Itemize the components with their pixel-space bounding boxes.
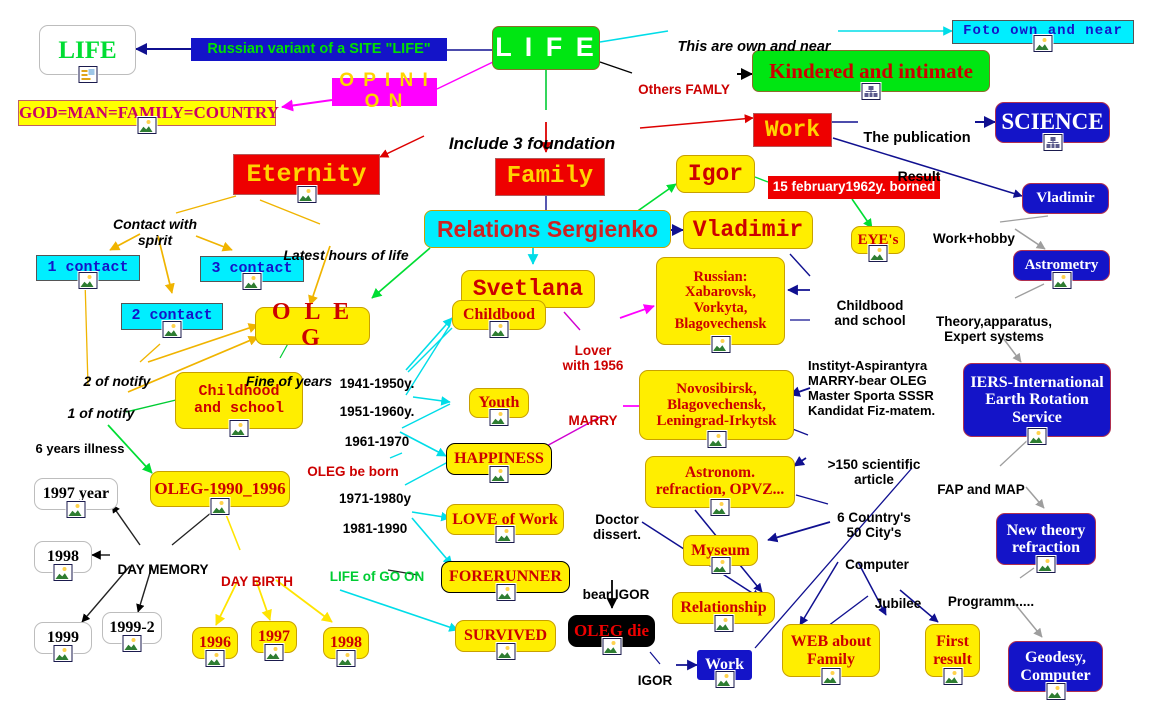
picture-icon[interactable] <box>490 409 509 426</box>
picture-icon[interactable] <box>230 420 249 437</box>
picture-icon[interactable] <box>211 498 230 515</box>
picture-icon[interactable] <box>496 643 515 660</box>
picture-icon[interactable] <box>711 499 730 516</box>
edge-label-work-hobby: Work+hobby <box>928 215 1020 246</box>
edge-label-life-of-go-on: LIFE of GO ON <box>320 553 434 584</box>
node-oleg[interactable]: O L E G <box>255 307 370 345</box>
picture-icon[interactable] <box>265 644 284 661</box>
picture-icon[interactable] <box>79 272 98 289</box>
node-eyes[interactable]: EYE's <box>851 226 905 254</box>
edge-label-fine-of-years: Fine of years <box>236 357 342 389</box>
edge-label-fap-and-map: FAP and MAP <box>930 466 1032 497</box>
edge-label-bear-igor: bear IGOR <box>574 571 658 602</box>
picture-icon[interactable] <box>822 668 841 685</box>
node-1999-2[interactable]: 1999-2 <box>102 612 162 644</box>
node-label: Vladimir <box>1023 190 1108 206</box>
edge-label-result: Result <box>888 152 950 184</box>
picture-icon[interactable] <box>206 650 225 667</box>
node-oleg-die[interactable]: OLEG die <box>568 615 655 647</box>
edge-label-latest-hours-of-life: Latest hours of life <box>272 231 420 263</box>
org-chart-icon[interactable] <box>1043 134 1062 151</box>
node-label: Eternity <box>234 161 379 188</box>
edge-label-this-are-own-near: This are own and near <box>668 22 840 55</box>
node-russian-variant[interactable]: Russian variant of a SITE "LIFE" <box>191 38 447 61</box>
edge-label-childbood-and-school: Childbood and school <box>822 282 918 329</box>
picture-icon[interactable] <box>337 650 356 667</box>
edge-label-lover-with-1956: Lover with 1956 <box>558 327 628 374</box>
node-label: Astronom. refraction, OPVZ... <box>646 465 794 498</box>
edge-label-include-3-foundation: Include 3 foundation <box>424 114 640 153</box>
picture-icon[interactable] <box>123 635 142 652</box>
picture-icon[interactable] <box>496 584 515 601</box>
node-y1997[interactable]: 1997 <box>251 621 297 653</box>
picture-icon[interactable] <box>711 557 730 574</box>
edge-label-6-countrys-50-citys: 6 Country's 50 City's <box>828 494 920 541</box>
node-label: LIFE <box>40 37 135 64</box>
document-icon[interactable] <box>78 66 97 83</box>
node-1998[interactable]: 1998 <box>34 541 92 573</box>
edge-label-2-of-notify: 2 of notify <box>72 357 162 389</box>
picture-icon[interactable] <box>1028 428 1047 445</box>
picture-icon[interactable] <box>943 668 962 685</box>
node-label: New theory refraction <box>997 522 1095 557</box>
node-label: O L E G <box>256 300 369 352</box>
node-label: O P I N I O N <box>332 71 437 112</box>
edge-label-6-years-illness: 6 years illness <box>28 427 132 457</box>
picture-icon[interactable] <box>714 615 733 632</box>
edge-label-doctor-dissert: Doctor dissert. <box>578 496 656 543</box>
picture-icon[interactable] <box>138 117 157 134</box>
picture-icon[interactable] <box>1046 683 1065 700</box>
edge-label-jubilee: Jubilee <box>868 580 928 611</box>
node-work-bottom[interactable]: Work <box>697 650 752 680</box>
node-opinion[interactable]: O P I N I O N <box>332 78 437 106</box>
node-label: First result <box>926 633 979 668</box>
node-label: Work <box>754 118 831 143</box>
edge-label-day-memory: DAY MEMORY <box>110 546 216 577</box>
node-label: Igor <box>677 162 754 187</box>
node-kindered-intimate[interactable]: Kindered and intimate <box>752 50 990 92</box>
node-novosibirsk[interactable]: Novosibirsk, Blagovechensk, Leningrad-Ir… <box>639 370 794 440</box>
node-relations-sergienko[interactable]: Relations Sergienko <box>424 210 671 248</box>
node-eternity[interactable]: Eternity <box>233 154 380 195</box>
picture-icon[interactable] <box>707 431 726 448</box>
edge-label-day-birth: DAY BIRTH <box>217 558 297 589</box>
edge-label-1981-1990: 1981-1990 <box>332 505 418 536</box>
edge-label-the-publication: The publication <box>856 113 978 146</box>
node-vladimir-blue[interactable]: Vladimir <box>1022 183 1109 214</box>
node-igor[interactable]: Igor <box>676 155 755 193</box>
picture-icon[interactable] <box>163 321 182 338</box>
picture-icon[interactable] <box>711 336 730 353</box>
node-foto-own-near[interactable]: Foto own and near <box>952 20 1134 44</box>
node-y1996[interactable]: 1996 <box>192 627 238 659</box>
node-label: Russian variant of a SITE "LIFE" <box>191 42 447 58</box>
edge-label-programm: Programm..... <box>942 578 1040 609</box>
edge-label-igor: IGOR <box>632 657 678 688</box>
node-label: Family <box>496 164 604 190</box>
mindmap-canvas: LIFE Russian variant of a SITE "LIFE" L … <box>0 0 1154 708</box>
edge-label-others-famly: Others FAMLY <box>628 66 740 97</box>
node-1997-year[interactable]: 1997 year <box>34 478 118 510</box>
node-label: SCIENCE <box>996 110 1109 135</box>
node-label: OLEG-1990_1996 <box>151 480 289 498</box>
node-y1998[interactable]: 1998 <box>323 627 369 659</box>
org-chart-icon[interactable] <box>862 83 881 100</box>
node-love-of-work[interactable]: LOVE of Work <box>446 504 564 535</box>
node-oleg-1990-1996[interactable]: OLEG-1990_1996 <box>150 471 290 507</box>
node-geodesy-computer[interactable]: Geodesy, Computer <box>1008 641 1103 692</box>
node-label: Kindered and intimate <box>753 60 989 83</box>
node-family[interactable]: Family <box>495 158 605 196</box>
edge-label-instityt-aspirantyra: Instityt-Aspirantyra MARRY-bear OLEG Mas… <box>808 344 954 419</box>
edge-label-1-of-notify: 1 of notify <box>58 389 144 421</box>
node-work-top[interactable]: Work <box>753 113 832 147</box>
picture-icon[interactable] <box>715 671 734 688</box>
picture-icon[interactable] <box>67 501 86 518</box>
picture-icon[interactable] <box>54 564 73 581</box>
node-first-result[interactable]: First result <box>925 624 980 677</box>
node-label: WEB about Family <box>783 633 879 668</box>
node-label: Russian: Xabarovsk, Vorkyta, Blagovechen… <box>657 270 784 333</box>
node-vladimir-yellow[interactable]: Vladimir <box>683 211 813 249</box>
node-happiness[interactable]: HAPPINESS <box>446 443 552 475</box>
edge-label-marry: MARRY <box>562 397 624 428</box>
picture-icon[interactable] <box>54 645 73 662</box>
node-russian-cities[interactable]: Russian: Xabarovsk, Vorkyta, Blagovechen… <box>656 257 785 345</box>
node-web-about-family[interactable]: WEB about Family <box>782 624 880 677</box>
node-iers[interactable]: IERS-International Earth Rotation Servic… <box>963 363 1111 437</box>
node-myseum[interactable]: Myseum <box>683 535 758 566</box>
node-survived[interactable]: SURVIVED <box>455 620 556 652</box>
edge-label-150-scientific-article: >150 scientific article <box>820 441 928 488</box>
node-label: Novosibirsk, Blagovechensk, Leningrad-Ir… <box>640 381 793 430</box>
picture-icon[interactable] <box>602 638 621 655</box>
node-label: Svetlana <box>462 277 594 302</box>
node-contact-2[interactable]: 2 contact <box>121 303 223 330</box>
node-label: Geodesy, Computer <box>1009 649 1102 684</box>
node-youth[interactable]: Youth <box>469 388 529 418</box>
node-new-theory-refraction[interactable]: New theory refraction <box>996 513 1096 565</box>
edge-label-contact-with-spirit: Contact with spirit <box>103 200 207 248</box>
picture-icon[interactable] <box>243 273 262 290</box>
node-label: Vladimir <box>684 218 812 243</box>
edge-label-theory-apparatus: Theory,apparatus, Expert systems <box>930 298 1058 345</box>
node-1999[interactable]: 1999 <box>34 622 92 654</box>
node-label: IERS-International Earth Rotation Servic… <box>964 374 1110 426</box>
node-label: L I F E <box>493 33 599 62</box>
node-life-ru[interactable]: LIFE <box>39 25 136 75</box>
edge-label-1971-1980: 1971-1980y <box>332 475 418 506</box>
node-science[interactable]: SCIENCE <box>995 102 1110 143</box>
node-contact-1[interactable]: 1 contact <box>36 255 140 281</box>
node-childbood[interactable]: Childbood <box>452 300 546 330</box>
picture-icon[interactable] <box>297 186 316 203</box>
picture-icon[interactable] <box>1052 272 1071 289</box>
node-astronom-refraction[interactable]: Astronom. refraction, OPVZ... <box>645 456 795 508</box>
node-relationship[interactable]: Relationship <box>672 592 775 624</box>
picture-icon[interactable] <box>496 526 515 543</box>
node-god-man-family-country[interactable]: GOD=MAN=FAMILY=COUNTRY <box>18 100 276 126</box>
picture-icon[interactable] <box>1034 35 1053 52</box>
node-astrometry[interactable]: Astrometry <box>1013 250 1110 281</box>
edge-label-1961-1970: 1961-1970 <box>332 418 422 449</box>
edge-label-1941-1950: 1941-1950y. <box>332 360 422 391</box>
node-life-main[interactable]: L I F E <box>492 26 600 70</box>
picture-icon[interactable] <box>490 321 509 338</box>
node-forerunner[interactable]: FORERUNNER <box>441 561 570 593</box>
picture-icon[interactable] <box>1037 556 1056 573</box>
edge-label-computer: Computer <box>838 541 916 572</box>
edge-label-1951-1960: 1951-1960y. <box>332 388 422 419</box>
picture-icon[interactable] <box>490 466 509 483</box>
node-label: Relations Sergienko <box>425 217 670 242</box>
picture-icon[interactable] <box>869 245 888 262</box>
